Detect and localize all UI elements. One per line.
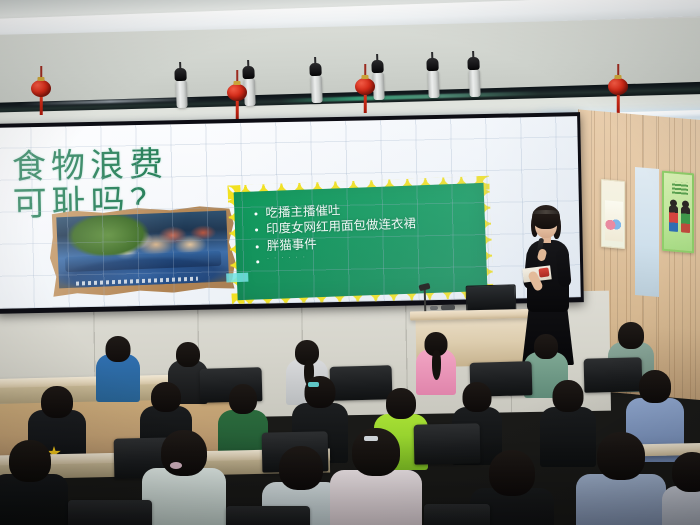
presenter-red-object	[538, 267, 549, 277]
hair-clip-icon	[364, 436, 378, 441]
wall-poster-children	[601, 179, 625, 249]
student-head	[229, 384, 257, 414]
presenter-right-arm	[555, 249, 571, 288]
student-head	[279, 446, 323, 490]
list-item	[576, 432, 666, 525]
red-lantern-icon	[355, 78, 375, 95]
list-item	[330, 428, 422, 525]
student-body	[330, 470, 422, 525]
presenter-headband	[533, 210, 559, 214]
student-body	[576, 474, 666, 525]
presenter-hair	[532, 205, 560, 229]
list-item	[662, 452, 700, 525]
student-head	[463, 382, 492, 412]
presentation-screen[interactable]: 食物浪费 可耻吗？ 吃播主播催吐 印度女网红用面包做连衣裙 胖猫事件 · · ·…	[0, 116, 581, 309]
spotlight-icon	[174, 68, 187, 108]
spotlight-icon	[467, 57, 480, 97]
spotlight-icon	[426, 58, 439, 98]
seat-back	[226, 506, 310, 525]
student-head	[553, 380, 584, 412]
list-item	[96, 336, 140, 396]
photo-image	[56, 210, 229, 288]
wall-window-gap	[635, 167, 659, 297]
student-head	[106, 336, 131, 362]
student-ponytail	[432, 350, 441, 380]
red-lantern-icon	[31, 80, 51, 97]
student-head	[176, 342, 200, 367]
hair-clip-icon	[308, 382, 319, 387]
bullet-list: 吃播主播催吐 印度女网红用面包做连衣裙 胖猫事件 · · · · · ·	[252, 197, 476, 263]
auditorium-photo: 食物浪费 可耻吗？ 吃播主播催吐 印度女网红用面包做连衣裙 胖猫事件 · · ·…	[0, 0, 700, 525]
poster-kid-figure	[669, 205, 678, 232]
photo-caption-text	[76, 277, 198, 286]
seat-back	[68, 500, 152, 525]
poster-kid-figure	[681, 206, 690, 233]
student-head	[597, 432, 645, 480]
student-body	[142, 468, 226, 525]
hair-tie-icon	[170, 462, 182, 469]
student-head	[41, 386, 73, 418]
food-waste-photo	[48, 204, 236, 298]
student-head	[151, 382, 181, 412]
student-head	[9, 440, 51, 482]
student-head	[672, 452, 700, 492]
red-lantern-icon	[608, 78, 628, 95]
slide-cyan-accent	[226, 273, 248, 283]
student-head	[534, 334, 558, 359]
led-screen-frame: 食物浪费 可耻吗？ 吃播主播催吐 印度女网红用面包做连衣裙 胖猫事件 · · ·…	[0, 112, 584, 314]
student-head	[305, 376, 336, 408]
student-head	[618, 322, 644, 349]
podium-object	[430, 306, 438, 310]
list-item	[416, 332, 456, 390]
wall-poster-cartoon	[662, 171, 694, 254]
list-item	[142, 430, 226, 525]
student-head	[386, 388, 416, 419]
seat-back	[424, 504, 490, 525]
podium-object	[441, 305, 455, 310]
spotlight-icon	[309, 63, 322, 103]
student-head	[639, 370, 671, 403]
green-panel: 吃播主播催吐 印度女网红用面包做连衣裙 胖猫事件 · · · · · ·	[234, 183, 488, 300]
poster-artwork	[605, 200, 623, 242]
list-item	[0, 440, 68, 525]
red-lantern-icon	[227, 84, 247, 101]
student-head	[161, 430, 207, 476]
slide-content-box: 吃播主播催吐 印度女网红用面包做连衣裙 胖猫事件 · · · · · ·	[227, 176, 493, 308]
poster-header-band	[672, 181, 688, 194]
student-head	[489, 450, 535, 496]
